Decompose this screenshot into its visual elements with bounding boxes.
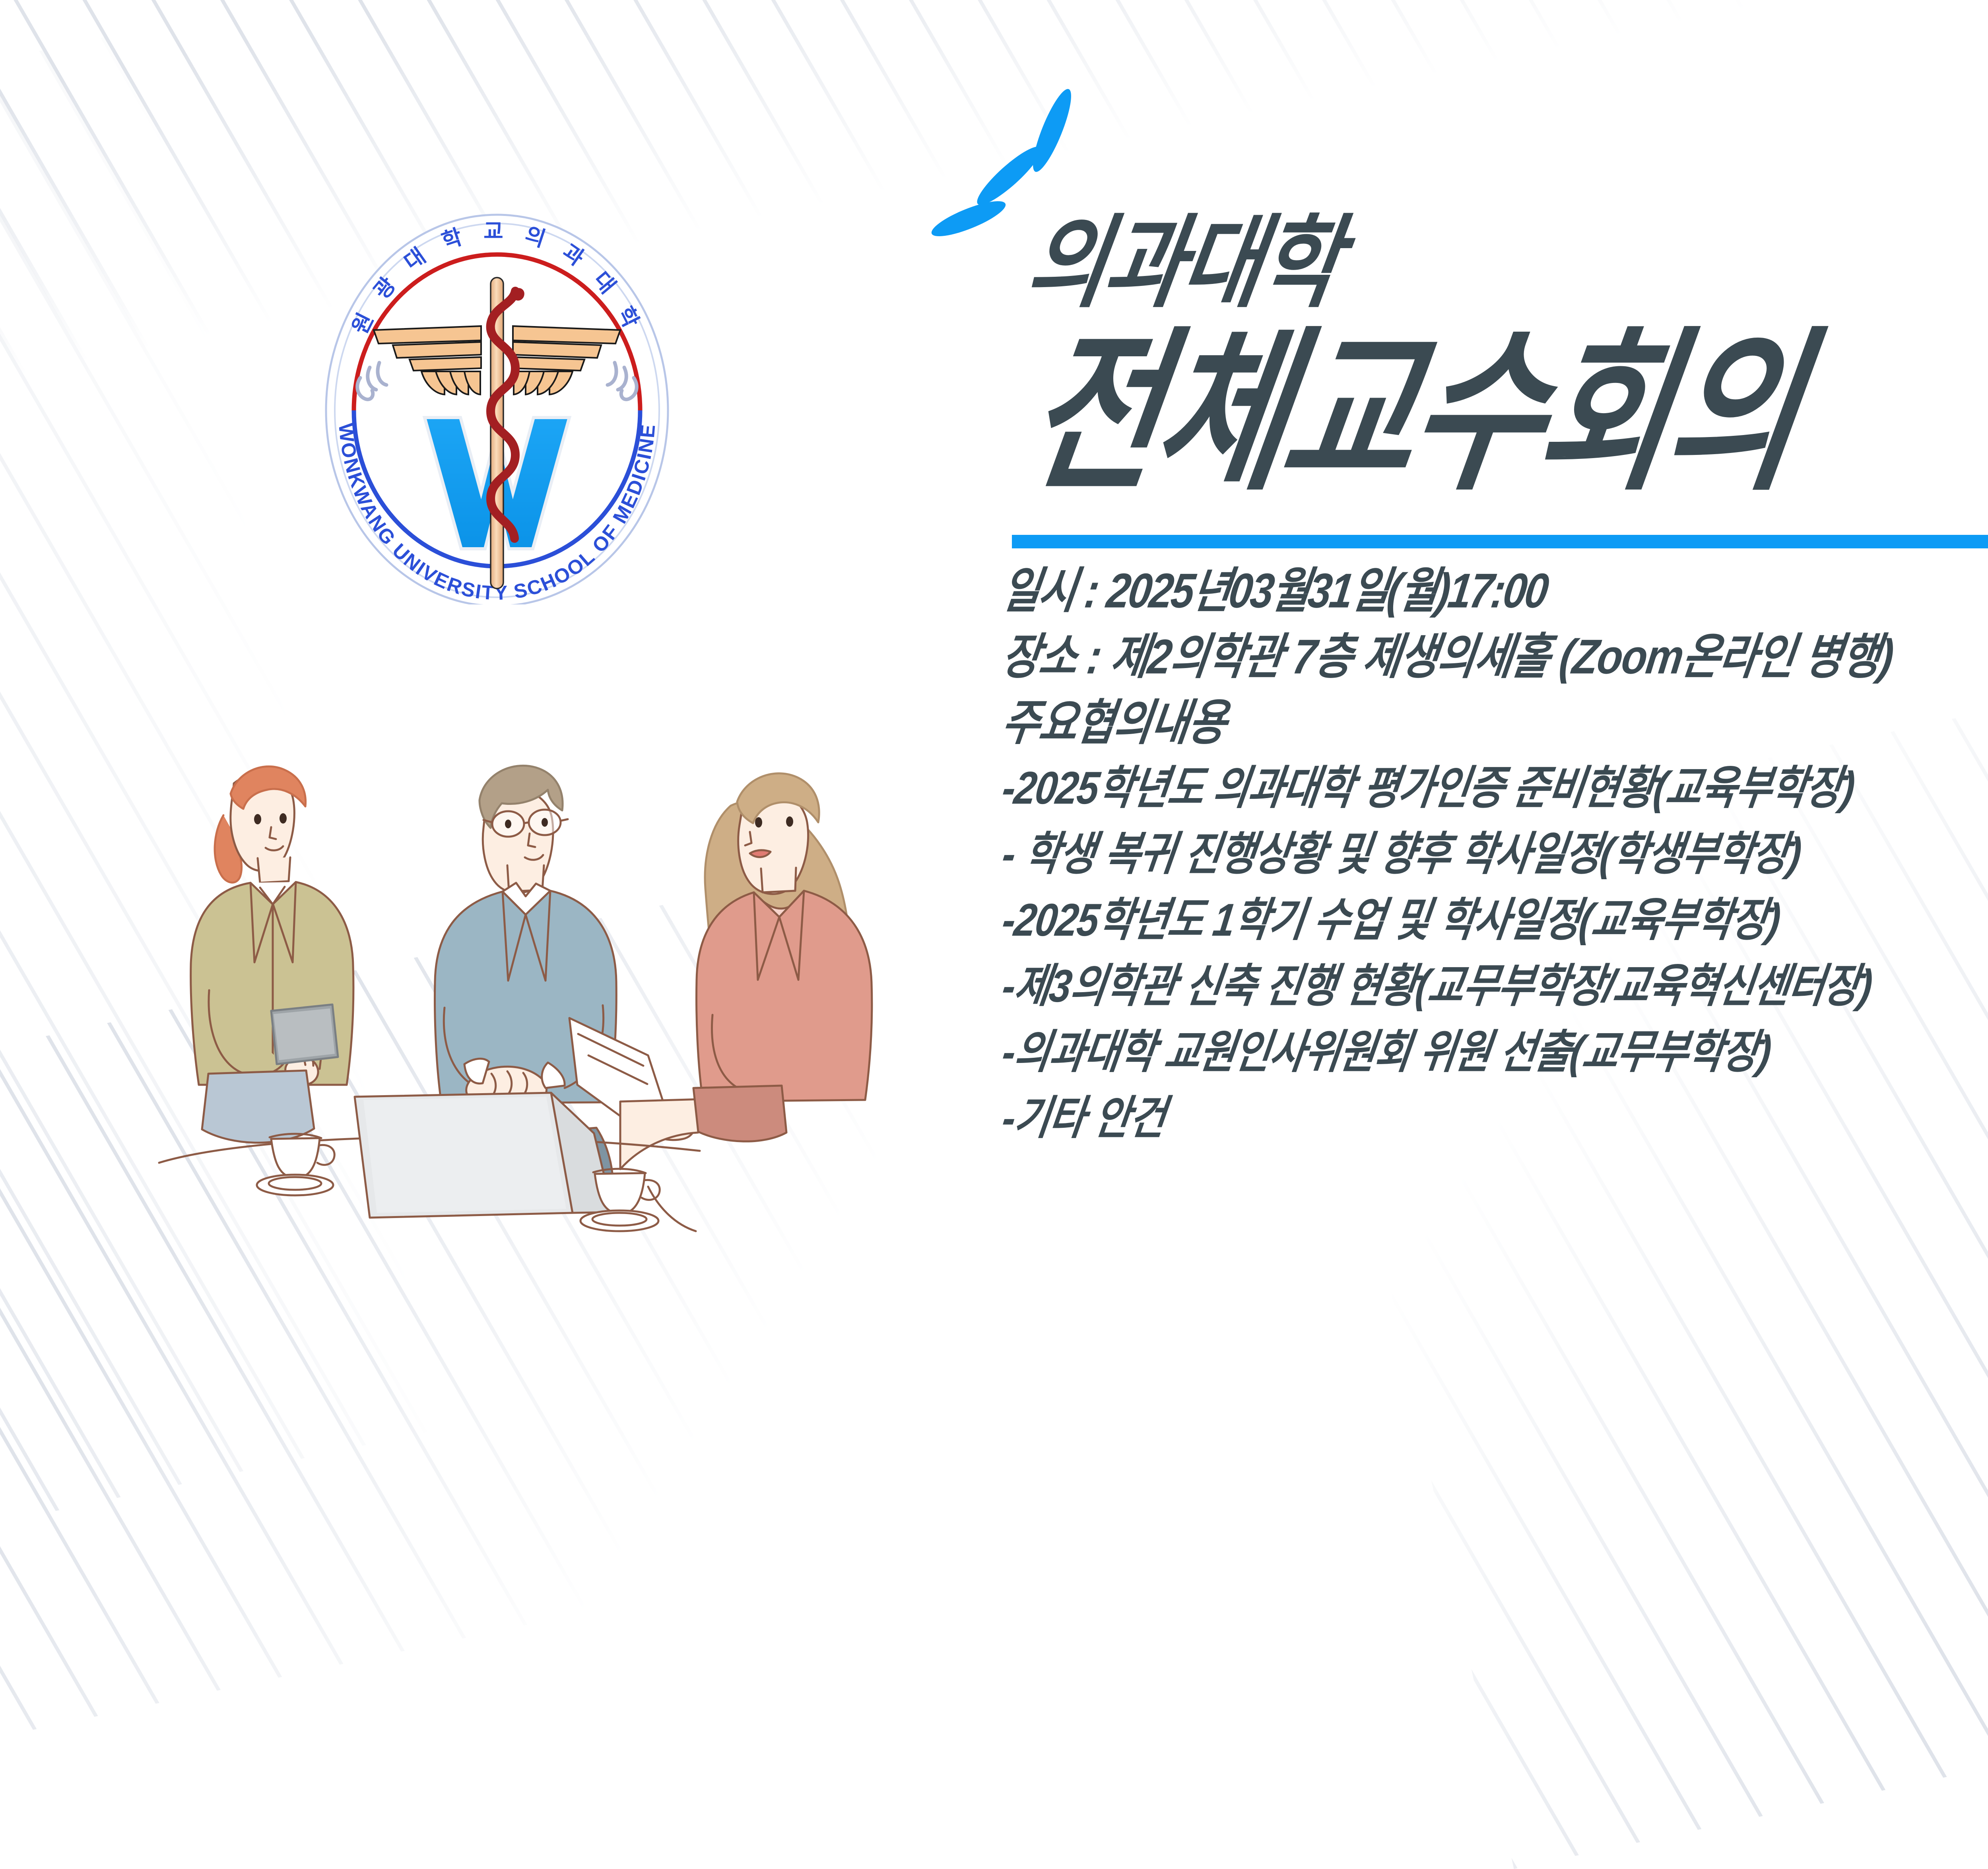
university-emblem: 원 광 대 학 교 의 과 대 학 WONKWANG UNIVERSITY SC… (294, 207, 700, 604)
info-line-agenda-2: - 학생 복귀 진행상황 및 향후 학사일정(학생부학장) (999, 831, 1988, 880)
info-line-agenda-heading: 주요협의내용 (999, 699, 1988, 748)
poster-main-title: 전체교수회의 (1013, 270, 1820, 524)
meeting-info-list: 일시 : 2025년03월31일(월)17:00 장소 : 제2의학관 7층 제… (1006, 567, 1988, 1161)
info-line-agenda-4: -제3의학관 신축 진행 현황(교무부학장/교육혁신센터장) (999, 963, 1988, 1012)
info-line-agenda-3: -2025학년도 1학기 수업 및 학사일정(교육부학장) (999, 897, 1988, 946)
info-line-agenda-6: -기타 안건 (999, 1095, 1988, 1144)
info-line-location: 장소 : 제2의학관 7층 제생의세홀 (Zoom온라인 병행) (999, 633, 1988, 682)
poster-title-block: 의과대학 전체교수회의 (926, 80, 1988, 577)
info-line-agenda-1: -2025학년도 의과대학 평가인증 준비현황(교육부학장) (999, 765, 1988, 814)
laptop (355, 1093, 613, 1218)
info-line-agenda-5: -의과대학 교원인사위원회 위원 선출(교무부학장) (999, 1029, 1988, 1078)
person-woman-left (191, 766, 353, 1142)
three-people-meeting-illustration (131, 716, 934, 1241)
info-line-datetime: 일시 : 2025년03월31일(월)17:00 (999, 567, 1988, 616)
accent-underline (1012, 519, 1988, 567)
